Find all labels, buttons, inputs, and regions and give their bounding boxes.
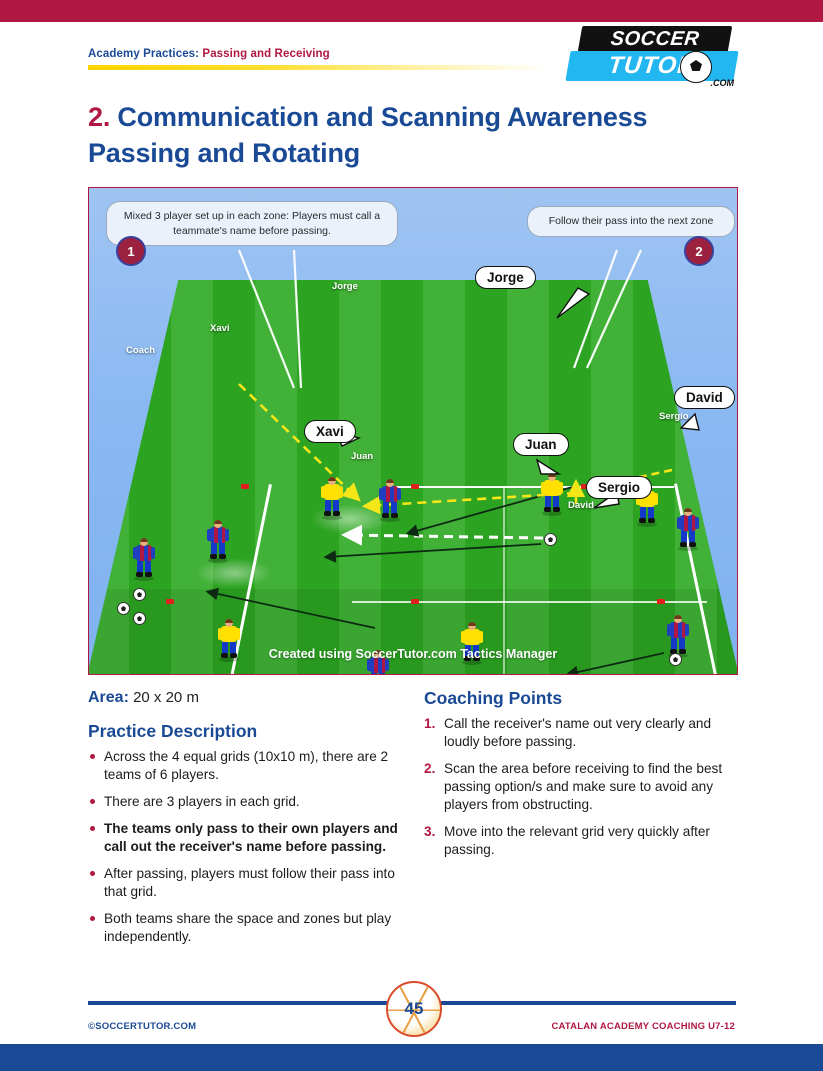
list-item: After passing, players must follow their… <box>88 865 418 901</box>
callout-leader-lines <box>89 188 737 674</box>
area-value: 20 x 20 m <box>129 689 199 706</box>
list-item: The teams only pass to their own players… <box>88 820 418 856</box>
soccertutor-logo: SOCCER TUTOR .COM <box>568 26 736 86</box>
title-text: Communication and Scanning Awareness Pas… <box>88 102 647 168</box>
logo-tutor-block: TUTOR <box>565 51 738 81</box>
area-label: Area: <box>88 689 129 706</box>
list-item: Move into the relevant grid very quickly… <box>424 823 742 859</box>
soccer-ball-icon <box>680 51 712 83</box>
page-header: Academy Practices: Passing and Receiving… <box>88 48 736 70</box>
coaching-heading: Coaching Points <box>424 688 742 709</box>
title-number: 2. <box>88 102 110 132</box>
bottom-color-bar <box>0 1044 823 1071</box>
practice-column: Area: 20 x 20 m Practice Description Acr… <box>88 688 418 956</box>
list-item: Call the receiver's name out very clearl… <box>424 715 742 751</box>
footer-book-title: CATALAN ACADEMY COACHING U7-12 <box>551 1021 735 1032</box>
practice-diagram: Coach Xavi Jorge Juan Sergio David Jorge… <box>88 187 738 675</box>
practice-heading: Practice Description <box>88 721 418 742</box>
list-item: Both teams share the space and zones but… <box>88 910 418 946</box>
footer-copyright: ©SOCCERTUTOR.COM <box>88 1021 196 1032</box>
page-title: 2. Communication and Scanning Awareness … <box>88 100 748 171</box>
area-line: Area: 20 x 20 m <box>88 688 418 709</box>
page-number-ball: 45 <box>386 981 442 1037</box>
list-item: There are 3 players in each grid. <box>88 793 418 811</box>
coaching-points-list: Call the receiver's name out very clearl… <box>424 715 742 860</box>
header-gradient-rule <box>88 65 548 70</box>
list-item: Scan the area before receiving to find t… <box>424 760 742 814</box>
page-number: 45 <box>405 999 424 1019</box>
top-color-bar <box>0 0 823 22</box>
practice-bullet-list: Across the 4 equal grids (10x10 m), ther… <box>88 748 418 947</box>
coaching-column: Coaching Points Call the receiver's name… <box>424 688 742 869</box>
header-kicker-rest: Passing and Receiving <box>199 48 330 60</box>
header-kicker-bold: Academy Practices: <box>88 48 199 60</box>
logo-dotcom-text: .COM <box>711 78 735 88</box>
diagram-watermark: Created using SoccerTutor.com Tactics Ma… <box>89 647 737 661</box>
logo-soccer-block: SOCCER <box>578 26 733 52</box>
list-item: Across the 4 equal grids (10x10 m), ther… <box>88 748 418 784</box>
logo-soccer-text: SOCCER <box>579 26 732 52</box>
